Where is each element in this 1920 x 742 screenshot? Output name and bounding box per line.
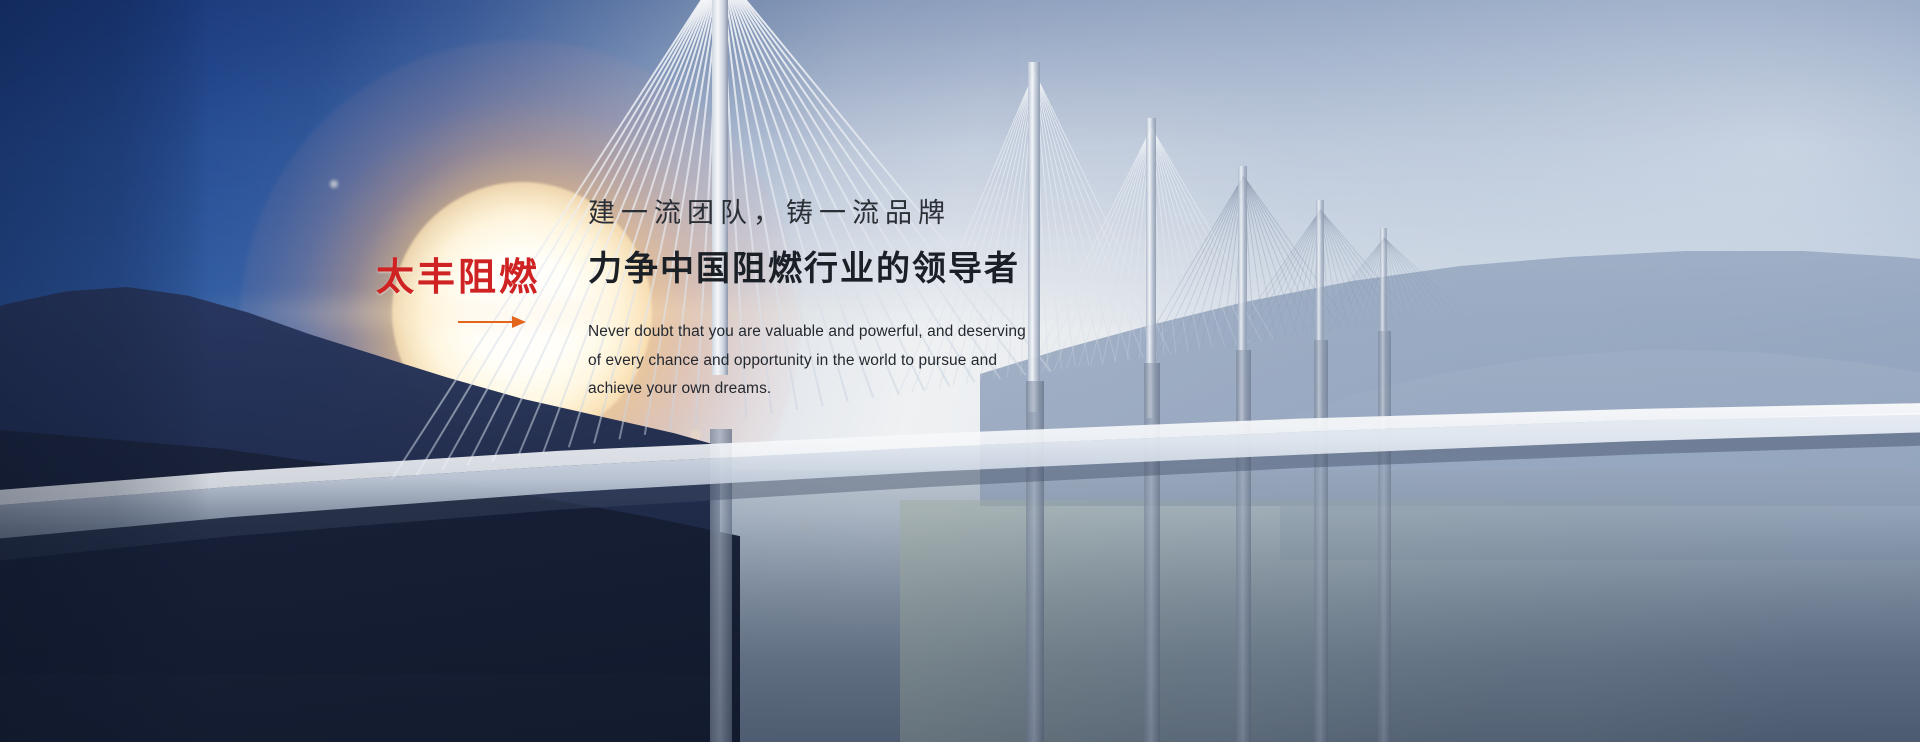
hero-paragraph: Never doubt that you are valuable and po… [588,318,1058,404]
headline-title: 力争中国阻燃行业的领导者 [588,246,1058,294]
hero-banner: 太丰阻燃 建一流团队，铸一流品牌 力争中国阻燃行业的领导者 Never doub… [0,0,1920,742]
banner-content: 太丰阻燃 建一流团队，铸一流品牌 力争中国阻燃行业的领导者 Never doub… [0,0,1920,742]
brand-logo-text: 太丰阻燃 [376,258,536,296]
hero-paragraph-line: achieve your own dreams. [588,375,1058,404]
hero-text-block: 建一流团队，铸一流品牌 力争中国阻燃行业的领导者 Never doubt tha… [588,196,1058,404]
arrow-head [512,316,526,328]
brand-logo[interactable]: 太丰阻燃 [376,258,536,328]
arrow-shaft [458,321,518,323]
hero-paragraph-line: of every chance and opportunity in the w… [588,347,1058,376]
headline-subtitle: 建一流团队，铸一流品牌 [588,196,1058,232]
arrow-right-icon [458,316,526,328]
hero-paragraph-line: Never doubt that you are valuable and po… [588,318,1058,347]
